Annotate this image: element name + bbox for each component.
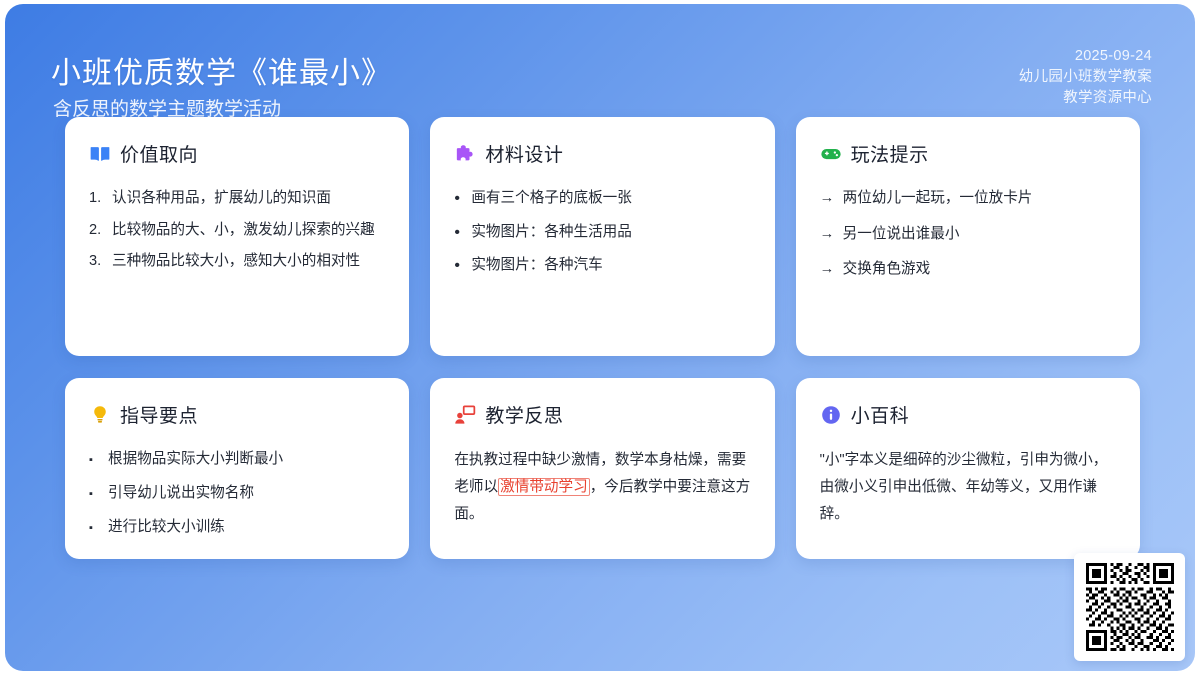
list-marker: ▪	[89, 481, 102, 507]
list-item: 1. 认识各种用品，扩展幼儿的知识面	[89, 186, 385, 212]
list-item: → 另一位说出谁最小	[820, 222, 1116, 248]
presenter-icon	[454, 404, 476, 426]
guidance-points-list: ▪ 根据物品实际大小判断最小 ▪ 引导幼儿说出实物名称 ▪ 进行比较大小训练	[89, 447, 385, 541]
list-marker: →	[820, 257, 837, 283]
list-item-text: 比较物品的大、小，激发幼儿探索的兴趣	[112, 218, 375, 244]
card-title: 教学反思	[485, 401, 563, 428]
qr-code-panel[interactable]	[1074, 553, 1185, 661]
list-item-text: 实物图片：各种汽车	[471, 253, 602, 279]
list-marker: 1.	[89, 186, 106, 212]
list-marker: ▪	[89, 515, 102, 541]
card-header: 价值取向	[89, 140, 385, 167]
value-orientation-list: 1. 认识各种用品，扩展幼儿的知识面 2. 比较物品的大、小，激发幼儿探索的兴趣…	[89, 186, 385, 275]
card-grid: 价值取向 1. 认识各种用品，扩展幼儿的知识面 2. 比较物品的大、小，激发幼儿…	[65, 117, 1140, 559]
list-item-text: 根据物品实际大小判断最小	[108, 447, 283, 473]
list-item: • 实物图片：各种生活用品	[454, 220, 750, 246]
list-item: 2. 比较物品的大、小，激发幼儿探索的兴趣	[89, 218, 385, 244]
meta-date: 2025-09-24	[1019, 46, 1152, 67]
meta-source: 教学资源中心	[1019, 88, 1152, 109]
list-item: ▪ 进行比较大小训练	[89, 515, 385, 541]
list-item-text: 实物图片：各种生活用品	[471, 220, 632, 246]
page-title: 小班优质数学《谁最小》	[51, 48, 392, 92]
qr-code	[1086, 563, 1174, 651]
meta-category: 幼儿园小班数学教案	[1019, 67, 1152, 88]
slide-canvas: 小班优质数学《谁最小》 含反思的数学主题教学活动 2025-09-24 幼儿园小…	[5, 4, 1195, 671]
list-marker: •	[454, 186, 465, 212]
puzzle-piece-icon	[454, 143, 476, 165]
list-marker: 3.	[89, 249, 106, 275]
material-design-list: • 画有三个格子的底板一张 • 实物图片：各种生活用品 • 实物图片：各种汽车	[454, 186, 750, 279]
card-encyclopedia[interactable]: 小百科 "小"字本义是细碎的沙尘微粒，引申为微小，由微小义引申出低微、年幼等义，…	[796, 378, 1140, 559]
card-header: 玩法提示	[820, 140, 1116, 167]
list-item-text: 另一位说出谁最小	[843, 222, 960, 248]
header-meta: 2025-09-24 幼儿园小班数学教案 教学资源中心	[1019, 46, 1152, 109]
reflection-highlight[interactable]: 激情带动学习	[498, 478, 590, 496]
list-marker: ▪	[89, 447, 102, 473]
list-item-text: 画有三个格子的底板一张	[471, 186, 632, 212]
encyclopedia-text: "小"字本义是细碎的沙尘微粒，引申为微小，由微小义引申出低微、年幼等义，又用作谦…	[820, 447, 1116, 528]
card-header: 指导要点	[89, 401, 385, 428]
list-item-text: 交换角色游戏	[843, 257, 931, 283]
card-row-top: 价值取向 1. 认识各种用品，扩展幼儿的知识面 2. 比较物品的大、小，激发幼儿…	[65, 117, 1140, 356]
list-item: → 两位幼儿一起玩，一位放卡片	[820, 186, 1116, 212]
list-item-text: 两位幼儿一起玩，一位放卡片	[843, 186, 1033, 212]
card-teaching-reflection[interactable]: 教学反思 在执教过程中缺少激情，数学本身枯燥，需要老师以激情带动学习，今后教学中…	[430, 378, 774, 559]
card-play-tips[interactable]: 玩法提示 → 两位幼儿一起玩，一位放卡片 → 另一位说出谁最小 → 交换角色游戏	[796, 117, 1140, 356]
card-title: 小百科	[851, 401, 910, 428]
game-controller-icon	[820, 143, 842, 165]
list-marker: →	[820, 222, 837, 248]
list-item: • 画有三个格子的底板一张	[454, 186, 750, 212]
card-material-design[interactable]: 材料设计 • 画有三个格子的底板一张 • 实物图片：各种生活用品 • 实物图片：…	[430, 117, 774, 356]
card-title: 玩法提示	[851, 140, 929, 167]
list-item: ▪ 根据物品实际大小判断最小	[89, 447, 385, 473]
card-header: 教学反思	[454, 401, 750, 428]
list-marker: •	[454, 253, 465, 279]
card-value-orientation[interactable]: 价值取向 1. 认识各种用品，扩展幼儿的知识面 2. 比较物品的大、小，激发幼儿…	[65, 117, 409, 356]
list-item-text: 三种物品比较大小，感知大小的相对性	[112, 249, 360, 275]
card-title: 价值取向	[120, 140, 198, 167]
open-book-icon	[89, 143, 111, 165]
list-item: ▪ 引导幼儿说出实物名称	[89, 481, 385, 507]
teaching-reflection-text: 在执教过程中缺少激情，数学本身枯燥，需要老师以激情带动学习，今后教学中要注意这方…	[454, 447, 750, 528]
list-marker: •	[454, 220, 465, 246]
card-title: 指导要点	[120, 401, 198, 428]
card-title: 材料设计	[485, 140, 563, 167]
list-item: 3. 三种物品比较大小，感知大小的相对性	[89, 249, 385, 275]
info-circle-icon	[820, 404, 842, 426]
slide-header: 小班优质数学《谁最小》 含反思的数学主题教学活动 2025-09-24 幼儿园小…	[5, 4, 1195, 124]
list-marker: 2.	[89, 218, 106, 244]
list-item: → 交换角色游戏	[820, 257, 1116, 283]
list-item-text: 引导幼儿说出实物名称	[108, 481, 254, 507]
list-marker: →	[820, 186, 837, 212]
play-tips-list: → 两位幼儿一起玩，一位放卡片 → 另一位说出谁最小 → 交换角色游戏	[820, 186, 1116, 283]
card-header: 材料设计	[454, 140, 750, 167]
list-item-text: 进行比较大小训练	[108, 515, 225, 541]
card-row-bottom: 指导要点 ▪ 根据物品实际大小判断最小 ▪ 引导幼儿说出实物名称 ▪ 进行比较大…	[65, 378, 1140, 559]
card-guidance-points[interactable]: 指导要点 ▪ 根据物品实际大小判断最小 ▪ 引导幼儿说出实物名称 ▪ 进行比较大…	[65, 378, 409, 559]
list-item: • 实物图片：各种汽车	[454, 253, 750, 279]
list-item-text: 认识各种用品，扩展幼儿的知识面	[112, 186, 331, 212]
card-header: 小百科	[820, 401, 1116, 428]
lightbulb-icon	[89, 404, 111, 426]
